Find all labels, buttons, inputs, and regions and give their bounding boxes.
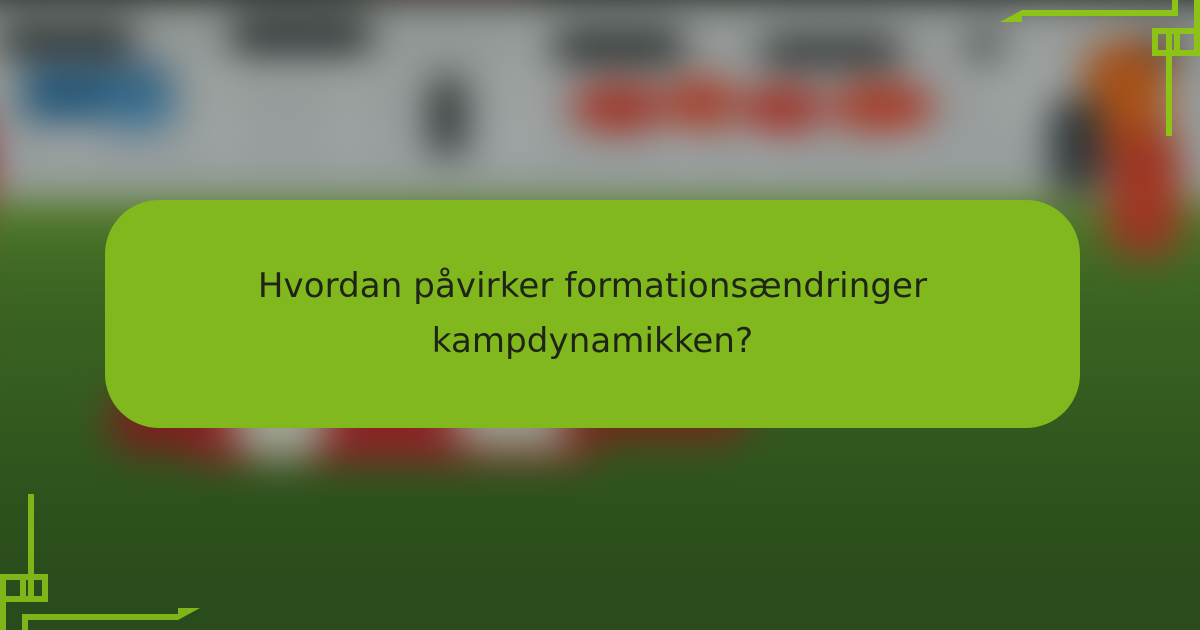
question-text: Hvordan påvirker formationsændringer kam… [213,259,973,369]
ornament-edge-bl [0,574,6,630]
corner-ornament-top-right [1000,0,1200,150]
ornament-arm-bl [0,574,22,580]
ornament-hstub-tr [1172,0,1178,16]
corner-ornament-bottom-left [0,480,200,630]
ornament-hrule-bl [28,614,178,620]
question-card: Hvordan påvirker formationsændringer kam… [105,200,1080,428]
ornament-vrule-tr [1166,28,1172,136]
ornament-taper-bl [178,608,200,620]
ornament-arm2-tr [1178,50,1194,56]
ornament-edge-tr [1194,0,1200,56]
ornament-taper-tr [1000,10,1022,22]
ornament-arm2-bl [6,596,22,602]
ornament-hrule-tr [1022,10,1172,16]
poster-canvas: Hvordan påvirker formationsændringer kam… [0,0,1200,630]
ornament-square-bl [20,574,48,602]
